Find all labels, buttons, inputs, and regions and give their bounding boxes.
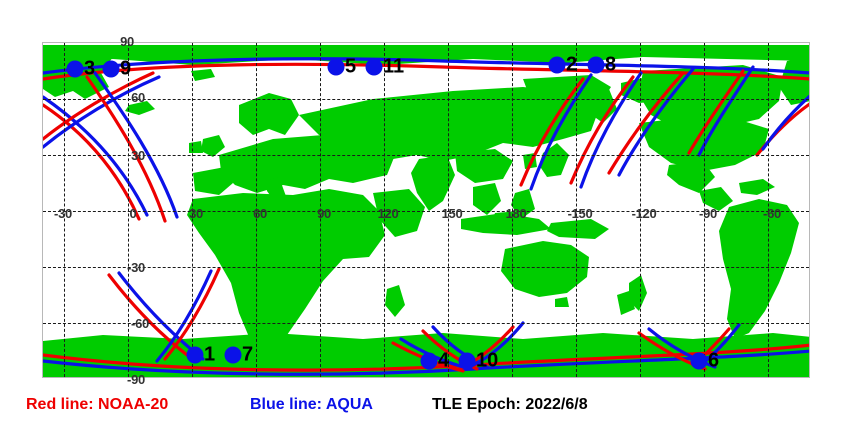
tick-lon--120: -120 [632,206,657,221]
land-newguinea [547,219,609,239]
tick-lat--30: -30 [127,260,145,275]
tick-lon-180: 180 [506,206,527,221]
gridline-lat-60 [43,99,809,100]
land-british-isles [201,135,225,157]
tick-lon--60: -60 [763,206,781,221]
tick-lat-30: 30 [131,148,145,163]
land-iberia [193,167,233,195]
marker-1[interactable] [187,347,204,364]
map-plot-area: 3 9 5 11 2 8 1 7 4 10 6 [42,42,810,378]
satellite-ground-track-map: 3 9 5 11 2 8 1 7 4 10 6 90 60 30 -30 -60… [0,0,850,425]
tick-lon--90: -90 [699,206,717,221]
marker-10[interactable] [459,353,476,370]
gridline-lat-30 [43,155,809,156]
land-svalbard [191,69,215,81]
tick-lon-0: 0 [130,206,137,221]
tick-lat--60: -60 [131,316,149,331]
marker-label-5: 5 [345,56,356,79]
tick-lon-90: 90 [317,206,331,221]
marker-label-1: 1 [204,344,215,367]
marker-label-8: 8 [605,54,616,77]
tick-lat-90: 90 [120,34,134,49]
marker-6[interactable] [691,353,708,370]
tick-lon--30: -30 [54,206,72,221]
land-caribbean [739,179,775,195]
marker-label-7: 7 [242,344,253,367]
marker-label-6: 6 [708,350,719,373]
tick-lon--150: -150 [568,206,593,221]
marker-label-10: 10 [476,350,498,373]
marker-label-11: 11 [383,56,404,79]
marker-5[interactable] [328,59,345,76]
land-southamerica [719,199,799,339]
tick-lat--90: -90 [127,372,145,387]
gridline-lat-0 [43,211,809,212]
legend-aqua: Blue line: AQUA [250,396,373,414]
track-noaa20-asc-1 [43,105,139,219]
tick-lon-120: 120 [378,206,399,221]
tick-lon-150: 150 [442,206,463,221]
tick-lon-60: 60 [253,206,267,221]
marker-9[interactable] [103,61,120,78]
land-greenland-right [779,57,810,105]
marker-label-3: 3 [84,58,95,81]
marker-label-9: 9 [120,58,131,81]
marker-7[interactable] [225,347,242,364]
marker-11[interactable] [366,59,383,76]
gridline-lat--30 [43,267,809,268]
marker-8[interactable] [588,57,605,74]
legend-bar: Red line: NOAA-20 Blue line: AQUA TLE Ep… [0,392,850,425]
legend-tle-epoch: TLE Epoch: 2022/6/8 [432,396,588,414]
tick-lon-30: 30 [189,206,203,221]
legend-noaa20: Red line: NOAA-20 [26,396,168,414]
land-tasmania [555,297,569,307]
marker-4[interactable] [421,353,438,370]
marker-2[interactable] [549,57,566,74]
gridline-lat--60 [43,323,809,324]
marker-3[interactable] [67,61,84,78]
marker-label-2: 2 [566,54,577,77]
marker-label-4: 4 [438,350,449,373]
land-madagascar [385,285,405,317]
tick-lat-60: 60 [131,90,145,105]
